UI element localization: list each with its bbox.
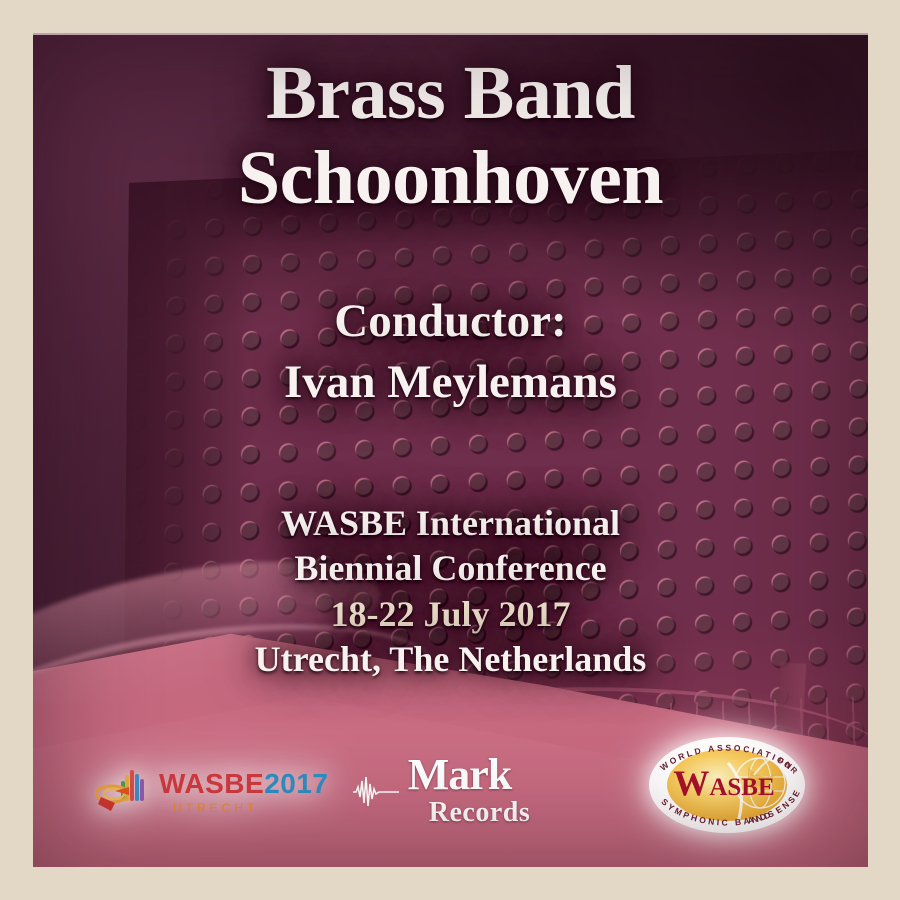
album-title-line-2: Schoonhoven [33,136,868,221]
horn-and-pipes-icon [95,761,157,823]
wasbe-seal-logo[interactable]: WASBE WORLD ASSOCIATION FOR SYMPHONIC BA… [632,729,822,841]
conductor-block: Conductor: Ivan Meylemans [33,291,868,413]
conference-line-1: WASBE International [33,501,868,546]
wasbe2017-wordmark: WASBE2017 UTRECHT [159,770,328,814]
wasbe2017-utrecht-logo[interactable]: WASBE2017 UTRECHT [95,749,310,835]
conference-location: Utrecht, The Netherlands [33,637,868,682]
wasbe2017-subtitle: UTRECHT [173,802,328,814]
album-cover: Brass Band Schoonhoven Conductor: Ivan M… [0,0,900,900]
conductor-name: Ivan Meylemans [33,352,868,413]
artwork-top-hairline [33,33,868,35]
wasbe2017-word: WASBE [159,768,264,799]
album-title-line-1: Brass Band [33,51,868,136]
logo-row: WASBE2017 UTRECHT Mark Records [33,731,868,841]
conference-dates: 18-22 July 2017 [33,592,868,637]
wasbe-seal-graphic: WASBE WORLD ASSOCIATION FOR SYMPHONIC BA… [632,729,822,841]
conductor-label: Conductor: [33,291,868,352]
mark-records-logo[interactable]: Mark Records [351,753,551,833]
cover-artwork: Brass Band Schoonhoven Conductor: Ivan M… [33,33,868,867]
waveform-icon [353,775,399,809]
album-title: Brass Band Schoonhoven [33,51,868,221]
wasbe2017-word-line: WASBE2017 [159,770,328,798]
wasbe2017-year: 2017 [264,768,328,799]
conference-block: WASBE International Biennial Conference … [33,501,868,682]
conference-line-2: Biennial Conference [33,546,868,591]
